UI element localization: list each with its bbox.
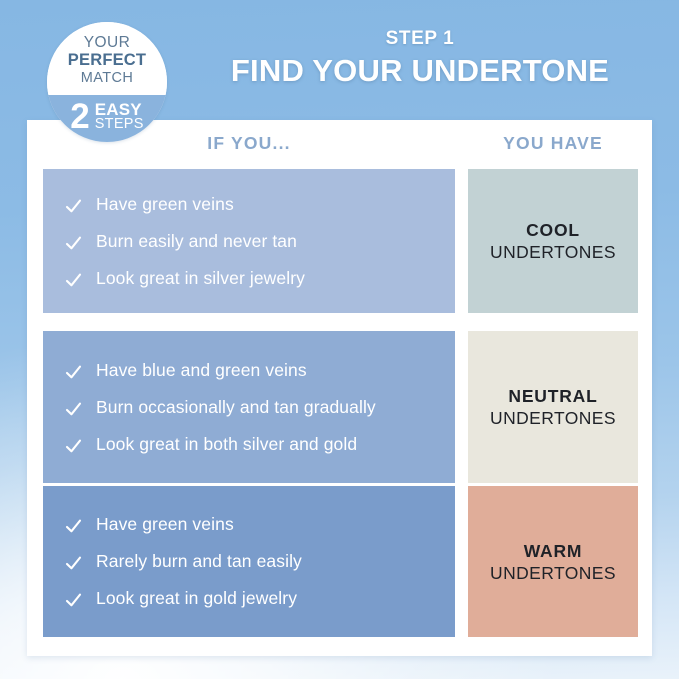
table-row: Have blue and green veins Burn occasiona… — [27, 331, 652, 483]
undertone-name: NEUTRAL — [508, 385, 597, 407]
table-row: Have green veins Rarely burn and tan eas… — [27, 486, 652, 637]
undertone-infographic: YOUR PERFECT MATCH 2 EASY STEPS STEP 1 F… — [0, 0, 679, 679]
check-icon — [65, 516, 82, 536]
check-icon — [65, 399, 82, 419]
badge-line-your: YOUR — [84, 34, 130, 51]
perfect-match-badge: YOUR PERFECT MATCH 2 EASY STEPS — [47, 22, 167, 142]
result-cell: WARM UNDERTONES — [468, 486, 638, 637]
conditions-cell: Have blue and green veins Burn occasiona… — [43, 331, 455, 483]
condition-text: Look great in both silver and gold — [96, 433, 357, 456]
badge-label-steps: STEPS — [95, 117, 144, 132]
check-icon — [65, 590, 82, 610]
undertone-name: WARM — [524, 540, 583, 562]
condition-text: Have blue and green veins — [96, 359, 307, 382]
check-icon — [65, 553, 82, 573]
result-cell: NEUTRAL UNDERTONES — [468, 331, 638, 483]
table-row: Have green veins Burn easily and never t… — [27, 169, 652, 313]
list-item: Have green veins — [65, 513, 441, 536]
badge-line-perfect: PERFECT — [68, 51, 146, 70]
condition-text: Look great in gold jewelry — [96, 587, 297, 610]
check-icon — [65, 196, 82, 216]
badge-step-count: 2 — [70, 100, 89, 133]
list-item: Look great in silver jewelry — [65, 267, 441, 290]
page-header: STEP 1 FIND YOUR UNDERTONE — [170, 28, 670, 89]
badge-upper-half: YOUR PERFECT MATCH — [47, 22, 167, 95]
list-item: Look great in gold jewelry — [65, 587, 441, 610]
condition-text: Look great in silver jewelry — [96, 267, 305, 290]
result-cell: COOL UNDERTONES — [468, 169, 638, 313]
condition-text: Burn easily and never tan — [96, 230, 297, 253]
list-item: Burn easily and never tan — [65, 230, 441, 253]
step-label: STEP 1 — [170, 28, 670, 50]
condition-text: Rarely burn and tan easily — [96, 550, 302, 573]
badge-label-easy: EASY — [95, 102, 144, 117]
undertone-sublabel: UNDERTONES — [490, 241, 616, 263]
undertone-rows: Have green veins Burn easily and never t… — [27, 120, 652, 656]
check-icon — [65, 436, 82, 456]
condition-text: Burn occasionally and tan gradually — [96, 396, 376, 419]
badge-line-match: MATCH — [81, 70, 133, 87]
undertone-sublabel: UNDERTONES — [490, 562, 616, 584]
undertone-sublabel: UNDERTONES — [490, 407, 616, 429]
list-item: Burn occasionally and tan gradually — [65, 396, 441, 419]
list-item: Have green veins — [65, 193, 441, 216]
check-icon — [65, 362, 82, 382]
list-item: Look great in both silver and gold — [65, 433, 441, 456]
condition-text: Have green veins — [96, 513, 234, 536]
list-item: Rarely burn and tan easily — [65, 550, 441, 573]
check-icon — [65, 270, 82, 290]
list-item: Have blue and green veins — [65, 359, 441, 382]
badge-lower-half: 2 EASY STEPS — [47, 95, 167, 142]
badge-step-words: EASY STEPS — [95, 102, 144, 132]
check-icon — [65, 233, 82, 253]
page-title: FIND YOUR UNDERTONE — [170, 52, 670, 89]
conditions-cell: Have green veins Burn easily and never t… — [43, 169, 455, 313]
undertone-name: COOL — [526, 219, 580, 241]
condition-text: Have green veins — [96, 193, 234, 216]
conditions-cell: Have green veins Rarely burn and tan eas… — [43, 486, 455, 637]
